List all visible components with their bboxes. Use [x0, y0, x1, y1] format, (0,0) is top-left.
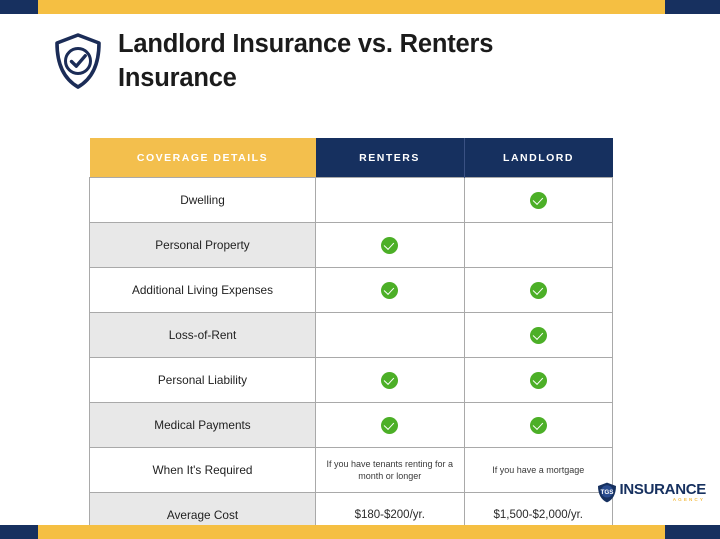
bottom-bar-navy-right-segment — [665, 525, 720, 539]
comparison-table-wrapper: Coverage Details Renters Landlord Dwelli… — [89, 138, 612, 538]
table-row: Personal Property — [90, 223, 613, 268]
brand-logo: TGS INSURANCE AGENCY — [597, 482, 706, 503]
top-bar-navy-left-segment — [0, 0, 38, 14]
top-bar-yellow-segment — [38, 0, 665, 14]
renters-value-cell — [316, 268, 465, 313]
check-circle-icon — [530, 282, 547, 299]
coverage-detail-cell: Loss-of-Rent — [90, 313, 316, 358]
renters-value-cell — [316, 313, 465, 358]
renters-value-cell — [316, 358, 465, 403]
check-circle-icon — [381, 282, 398, 299]
table-row: Personal Liability — [90, 358, 613, 403]
landlord-value-cell — [464, 313, 613, 358]
top-accent-bar — [0, 0, 720, 14]
page-title: Landlord Insurance vs. Renters Insurance — [118, 28, 618, 95]
column-header-landlord: Landlord — [464, 138, 613, 178]
svg-text:TGS: TGS — [600, 489, 613, 496]
table-row: Additional Living Expenses — [90, 268, 613, 313]
coverage-comparison-table: Coverage Details Renters Landlord Dwelli… — [89, 138, 613, 538]
bottom-bar-yellow-segment — [38, 525, 665, 539]
bottom-accent-bar — [0, 525, 720, 539]
check-circle-icon — [530, 372, 547, 389]
table-header: Coverage Details Renters Landlord — [90, 138, 613, 178]
landlord-value-cell — [464, 358, 613, 403]
renters-value-cell — [316, 223, 465, 268]
coverage-detail-cell: Dwelling — [90, 178, 316, 223]
landlord-value-cell — [464, 268, 613, 313]
logo-text: INSURANCE AGENCY — [620, 482, 706, 503]
table-row: When It's RequiredIf you have tenants re… — [90, 448, 613, 493]
check-circle-icon — [530, 327, 547, 344]
logo-wordmark: INSURANCE — [620, 482, 706, 497]
landlord-value-cell — [464, 403, 613, 448]
check-circle-icon — [530, 192, 547, 209]
shield-check-icon — [52, 32, 104, 90]
renters-value-cell — [316, 178, 465, 223]
coverage-detail-cell: Personal Property — [90, 223, 316, 268]
check-circle-icon — [381, 372, 398, 389]
tgs-shield-icon: TGS — [597, 482, 617, 503]
infographic-canvas: Landlord Insurance vs. Renters Insurance… — [0, 14, 720, 525]
logo-tagline: AGENCY — [673, 498, 705, 503]
column-header-renters: Renters — [316, 138, 465, 178]
landlord-value-cell — [464, 178, 613, 223]
header: Landlord Insurance vs. Renters Insurance — [52, 28, 632, 95]
bottom-bar-navy-left-segment — [0, 525, 38, 539]
coverage-detail-cell: When It's Required — [90, 448, 316, 493]
table-header-row: Coverage Details Renters Landlord — [90, 138, 613, 178]
table-row: Dwelling — [90, 178, 613, 223]
renters-value-cell: If you have tenants renting for a month … — [316, 448, 465, 493]
landlord-value-cell: If you have a mortgage — [464, 448, 613, 493]
top-bar-navy-right-segment — [665, 0, 720, 14]
table-body: DwellingPersonal PropertyAdditional Livi… — [90, 178, 613, 538]
coverage-detail-cell: Medical Payments — [90, 403, 316, 448]
column-header-coverage-details: Coverage Details — [90, 138, 316, 178]
renters-value-cell — [316, 403, 465, 448]
coverage-detail-cell: Personal Liability — [90, 358, 316, 403]
landlord-value-cell — [464, 223, 613, 268]
check-circle-icon — [381, 237, 398, 254]
coverage-detail-cell: Additional Living Expenses — [90, 268, 316, 313]
check-circle-icon — [530, 417, 547, 434]
table-row: Medical Payments — [90, 403, 613, 448]
table-row: Loss-of-Rent — [90, 313, 613, 358]
check-circle-icon — [381, 417, 398, 434]
